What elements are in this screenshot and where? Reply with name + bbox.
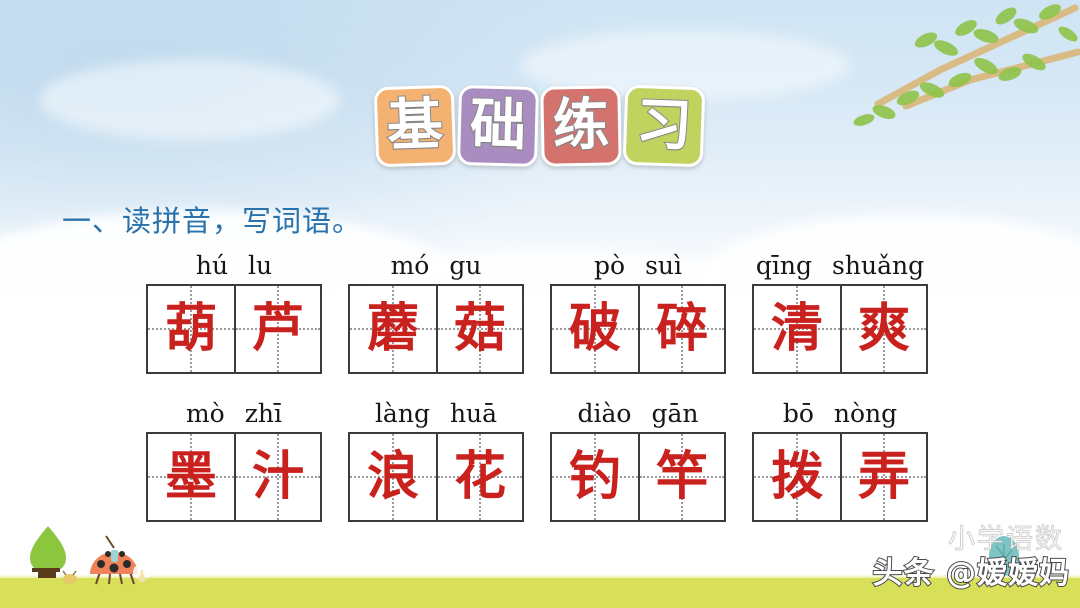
tianzige-grid[interactable]: 钓 竿	[550, 432, 726, 522]
title-tile: 基	[374, 85, 457, 168]
tianzige-cell[interactable]: 花	[436, 434, 522, 520]
tianzige-grid[interactable]: 葫 芦	[146, 284, 322, 374]
tianzige-cell[interactable]: 葫	[148, 286, 234, 372]
answer-character: 清	[771, 303, 823, 355]
answer-character: 花	[454, 451, 506, 503]
pinyin-syllable: gu	[449, 248, 481, 284]
pinyin-syllable: huā	[450, 396, 497, 432]
title-tile-char: 练	[553, 98, 610, 155]
watermark-main: 头条 @嫒嫒妈	[873, 548, 1070, 592]
pinyin-label: qīng shuǎng	[752, 248, 928, 284]
pinyin-syllable: lu	[248, 248, 272, 284]
exercise-item: diào gān 钓 竿	[550, 396, 726, 522]
title-tile: 础	[457, 85, 539, 167]
cloud-shape	[40, 60, 340, 140]
title-tile: 练	[540, 85, 621, 166]
tianzige-grid[interactable]: 清 爽	[752, 284, 928, 374]
answer-character: 破	[569, 303, 621, 355]
tianzige-grid[interactable]: 墨 汁	[146, 432, 322, 522]
title-tile-char: 基	[386, 97, 444, 155]
pinyin-label: diào gān	[550, 396, 726, 432]
answer-character: 钓	[569, 451, 621, 503]
title-tile: 习	[623, 85, 706, 168]
pinyin-label: bō nòng	[752, 396, 928, 432]
slide-title: 基 础 练 习	[375, 86, 704, 166]
answer-character: 芦	[252, 303, 304, 355]
tianzige-cell[interactable]: 菇	[436, 286, 522, 372]
pinyin-syllable: diào	[578, 396, 632, 432]
pinyin-label: pò suì	[550, 248, 726, 284]
exercise-item: làng huā 浪 花	[348, 396, 524, 522]
pinyin-label: mò zhī	[146, 396, 322, 432]
tianzige-cell[interactable]: 芦	[234, 286, 320, 372]
tianzige-cell[interactable]: 破	[552, 286, 638, 372]
pinyin-syllable: nòng	[834, 396, 897, 432]
tianzige-cell[interactable]: 清	[754, 286, 840, 372]
title-tile-char: 础	[469, 97, 526, 154]
pinyin-syllable: hú	[196, 248, 228, 284]
pinyin-syllable: zhī	[245, 396, 282, 432]
answer-character: 弄	[858, 451, 910, 503]
tianzige-cell[interactable]: 碎	[638, 286, 724, 372]
pinyin-syllable: làng	[375, 396, 430, 432]
tianzige-grid[interactable]: 浪 花	[348, 432, 524, 522]
tianzige-cell[interactable]: 蘑	[350, 286, 436, 372]
tianzige-grid[interactable]: 蘑 菇	[348, 284, 524, 374]
tianzige-cell[interactable]: 竿	[638, 434, 724, 520]
answer-character: 爽	[858, 303, 910, 355]
pinyin-label: mó gu	[348, 248, 524, 284]
answer-character: 汁	[252, 451, 304, 503]
answer-character: 碎	[656, 303, 708, 355]
pinyin-syllable: mò	[186, 396, 225, 432]
tree-branch-decoration	[820, 0, 1080, 140]
insect-icon	[60, 570, 80, 586]
exercise-item: hú lu 葫 芦	[146, 248, 322, 374]
tianzige-grid[interactable]: 拨 弄	[752, 432, 928, 522]
tianzige-cell[interactable]: 墨	[148, 434, 234, 520]
pinyin-syllable: qīng	[756, 248, 812, 284]
answer-character: 墨	[165, 451, 217, 503]
answer-character: 浪	[367, 451, 419, 503]
answer-character: 蘑	[367, 303, 419, 355]
exercise-item: mó gu 蘑 菇	[348, 248, 524, 374]
pinyin-syllable: mó	[391, 248, 430, 284]
exercise-item: pò suì 破 碎	[550, 248, 726, 374]
pinyin-syllable: shuǎng	[832, 248, 924, 284]
pinyin-syllable: pò	[594, 248, 625, 284]
pinyin-syllable: suì	[645, 248, 682, 284]
exercise-row: hú lu 葫 芦 mó gu	[0, 248, 1080, 374]
tianzige-cell[interactable]: 拨	[754, 434, 840, 520]
slide-canvas: 基 础 练 习 一、读拼音，写词语。 hú lu 葫	[0, 0, 1080, 608]
answer-character: 拨	[771, 451, 823, 503]
exercise-item: bō nòng 拨 弄	[752, 396, 928, 522]
title-tile-char: 习	[635, 97, 693, 155]
exercise-item: qīng shuǎng 清 爽	[752, 248, 928, 374]
answer-character: 竿	[656, 451, 708, 503]
answer-character: 菇	[454, 303, 506, 355]
pinyin-label: hú lu	[146, 248, 322, 284]
pinyin-syllable: bō	[783, 396, 814, 432]
tianzige-grid[interactable]: 破 碎	[550, 284, 726, 374]
question-heading: 一、读拼音，写词语。	[62, 198, 362, 240]
pinyin-label: làng huā	[348, 396, 524, 432]
tianzige-cell[interactable]: 钓	[552, 434, 638, 520]
exercise-area: hú lu 葫 芦 mó gu	[0, 248, 1080, 544]
tianzige-cell[interactable]: 弄	[840, 434, 926, 520]
exercise-item: mò zhī 墨 汁	[146, 396, 322, 522]
tianzige-cell[interactable]: 浪	[350, 434, 436, 520]
tianzige-cell[interactable]: 汁	[234, 434, 320, 520]
exercise-row: mò zhī 墨 汁 làng huā	[0, 396, 1080, 522]
tianzige-cell[interactable]: 爽	[840, 286, 926, 372]
insect-icon	[132, 564, 152, 584]
pinyin-syllable: gān	[651, 396, 698, 432]
answer-character: 葫	[165, 303, 217, 355]
